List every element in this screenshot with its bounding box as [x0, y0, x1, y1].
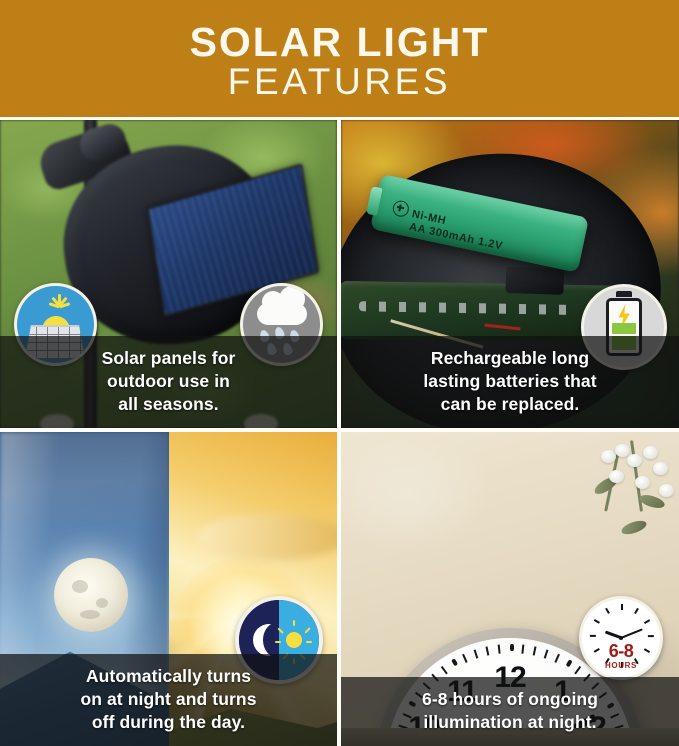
clock-tick: [451, 659, 458, 667]
clock-tick: [474, 649, 479, 658]
page-title-primary: SOLAR LIGHT: [190, 20, 490, 64]
badge-clock-tick: [590, 635, 596, 637]
sun-icon: [286, 632, 302, 648]
caption-line: outdoor use in: [14, 370, 323, 393]
badge-clock-tick: [605, 608, 610, 614]
feature-panel-rechargeable-batteries: Ni-MH AA 300mAh 1.2V Rechargeable long l…: [341, 120, 679, 428]
caption-line: lasting batteries that: [355, 370, 665, 393]
caption-line: can be replaced.: [355, 393, 665, 416]
caption-line: all seasons.: [14, 393, 323, 416]
badge-hours-value: 6-8: [582, 642, 660, 660]
clock-tick: [510, 644, 514, 651]
clock-tick: [498, 645, 501, 654]
leaf: [620, 519, 648, 536]
caption-line: Solar panels for: [14, 347, 323, 370]
sun-ray: [304, 627, 311, 634]
clock-hours-icon: 6-8 HOURS: [579, 596, 663, 680]
sun-ray: [306, 641, 312, 643]
panel-caption-rechargeable-batteries: Rechargeable long lasting batteries that…: [341, 336, 679, 428]
clock-tick: [462, 654, 467, 663]
badge-clock-face: 6-8 HOURS: [582, 599, 660, 677]
badge-clock-tick: [648, 635, 654, 637]
flower-petal: [635, 476, 650, 489]
clock-tick: [521, 645, 524, 654]
cloud-shape: [257, 303, 307, 325]
decorative-flowers: [565, 436, 679, 546]
clock-tick: [533, 646, 537, 655]
caption-line: Rechargeable long: [355, 347, 665, 370]
battery-spec-label: AA 300mAh 1.2V: [408, 221, 504, 253]
battery-contact: [505, 267, 564, 295]
battery-polarity-icon: [391, 199, 410, 218]
flower-petal: [659, 484, 674, 497]
caption-line: on at night and turns: [14, 688, 323, 711]
flower-petal: [653, 462, 668, 475]
clock-tick: [574, 666, 581, 674]
battery-level-bar: [612, 323, 636, 334]
solar-light-features-infographic: SOLAR LIGHT FEATURES: [0, 0, 679, 746]
flower-petal: [601, 450, 616, 463]
flower-petal: [643, 446, 658, 459]
panel-caption-runtime-hours: 6-8 hours of ongoing illumination at nig…: [341, 677, 679, 746]
badge-clock-tick: [621, 604, 623, 610]
feature-grid: Solar panels for outdoor use in all seas…: [0, 120, 679, 746]
clock-tick: [554, 654, 559, 663]
full-moon: [54, 558, 128, 632]
header-banner: SOLAR LIGHT FEATURES: [0, 0, 679, 117]
day-cloud: [197, 514, 337, 560]
flower-petal: [627, 454, 642, 467]
caption-line: Automatically turns: [14, 665, 323, 688]
badge-clock-tick: [644, 619, 650, 624]
caption-line: off during the day.: [14, 711, 323, 734]
clock-tick: [441, 666, 448, 674]
badge-center-cap: [619, 636, 623, 640]
clock-tick: [485, 646, 489, 655]
feature-panel-solar-panels: Solar panels for outdoor use in all seas…: [0, 120, 337, 428]
moon-crater: [96, 598, 108, 608]
flower-petal: [609, 470, 624, 483]
moon-crater: [72, 580, 88, 593]
clock-tick: [566, 659, 573, 667]
flower-petal: [615, 444, 630, 457]
caption-line: illumination at night.: [355, 711, 665, 734]
feature-panel-auto-on-off: Automatically turns on at night and turn…: [0, 432, 337, 746]
caption-line: 6-8 hours of ongoing: [355, 688, 665, 711]
page-title-secondary: FEATURES: [228, 62, 451, 102]
badge-minute-hand: [621, 628, 643, 639]
badge-clock-tick: [594, 619, 600, 624]
feature-panel-runtime-hours: 12 1 2 3 4 5 6 7 8 9 10 11: [341, 432, 679, 746]
panel-caption-solar-panels: Solar panels for outdoor use in all seas…: [0, 336, 337, 428]
aa-battery-cell: Ni-MH AA 300mAh 1.2V: [370, 174, 589, 273]
moon-crater: [80, 610, 100, 619]
solder-joints: [359, 301, 579, 315]
badge-clock-tick: [634, 608, 639, 614]
clock-tick: [544, 649, 549, 658]
panel-caption-auto-on-off: Automatically turns on at night and turn…: [0, 654, 337, 746]
sun-ray: [293, 620, 295, 626]
badge-hours-unit: HOURS: [582, 661, 660, 670]
